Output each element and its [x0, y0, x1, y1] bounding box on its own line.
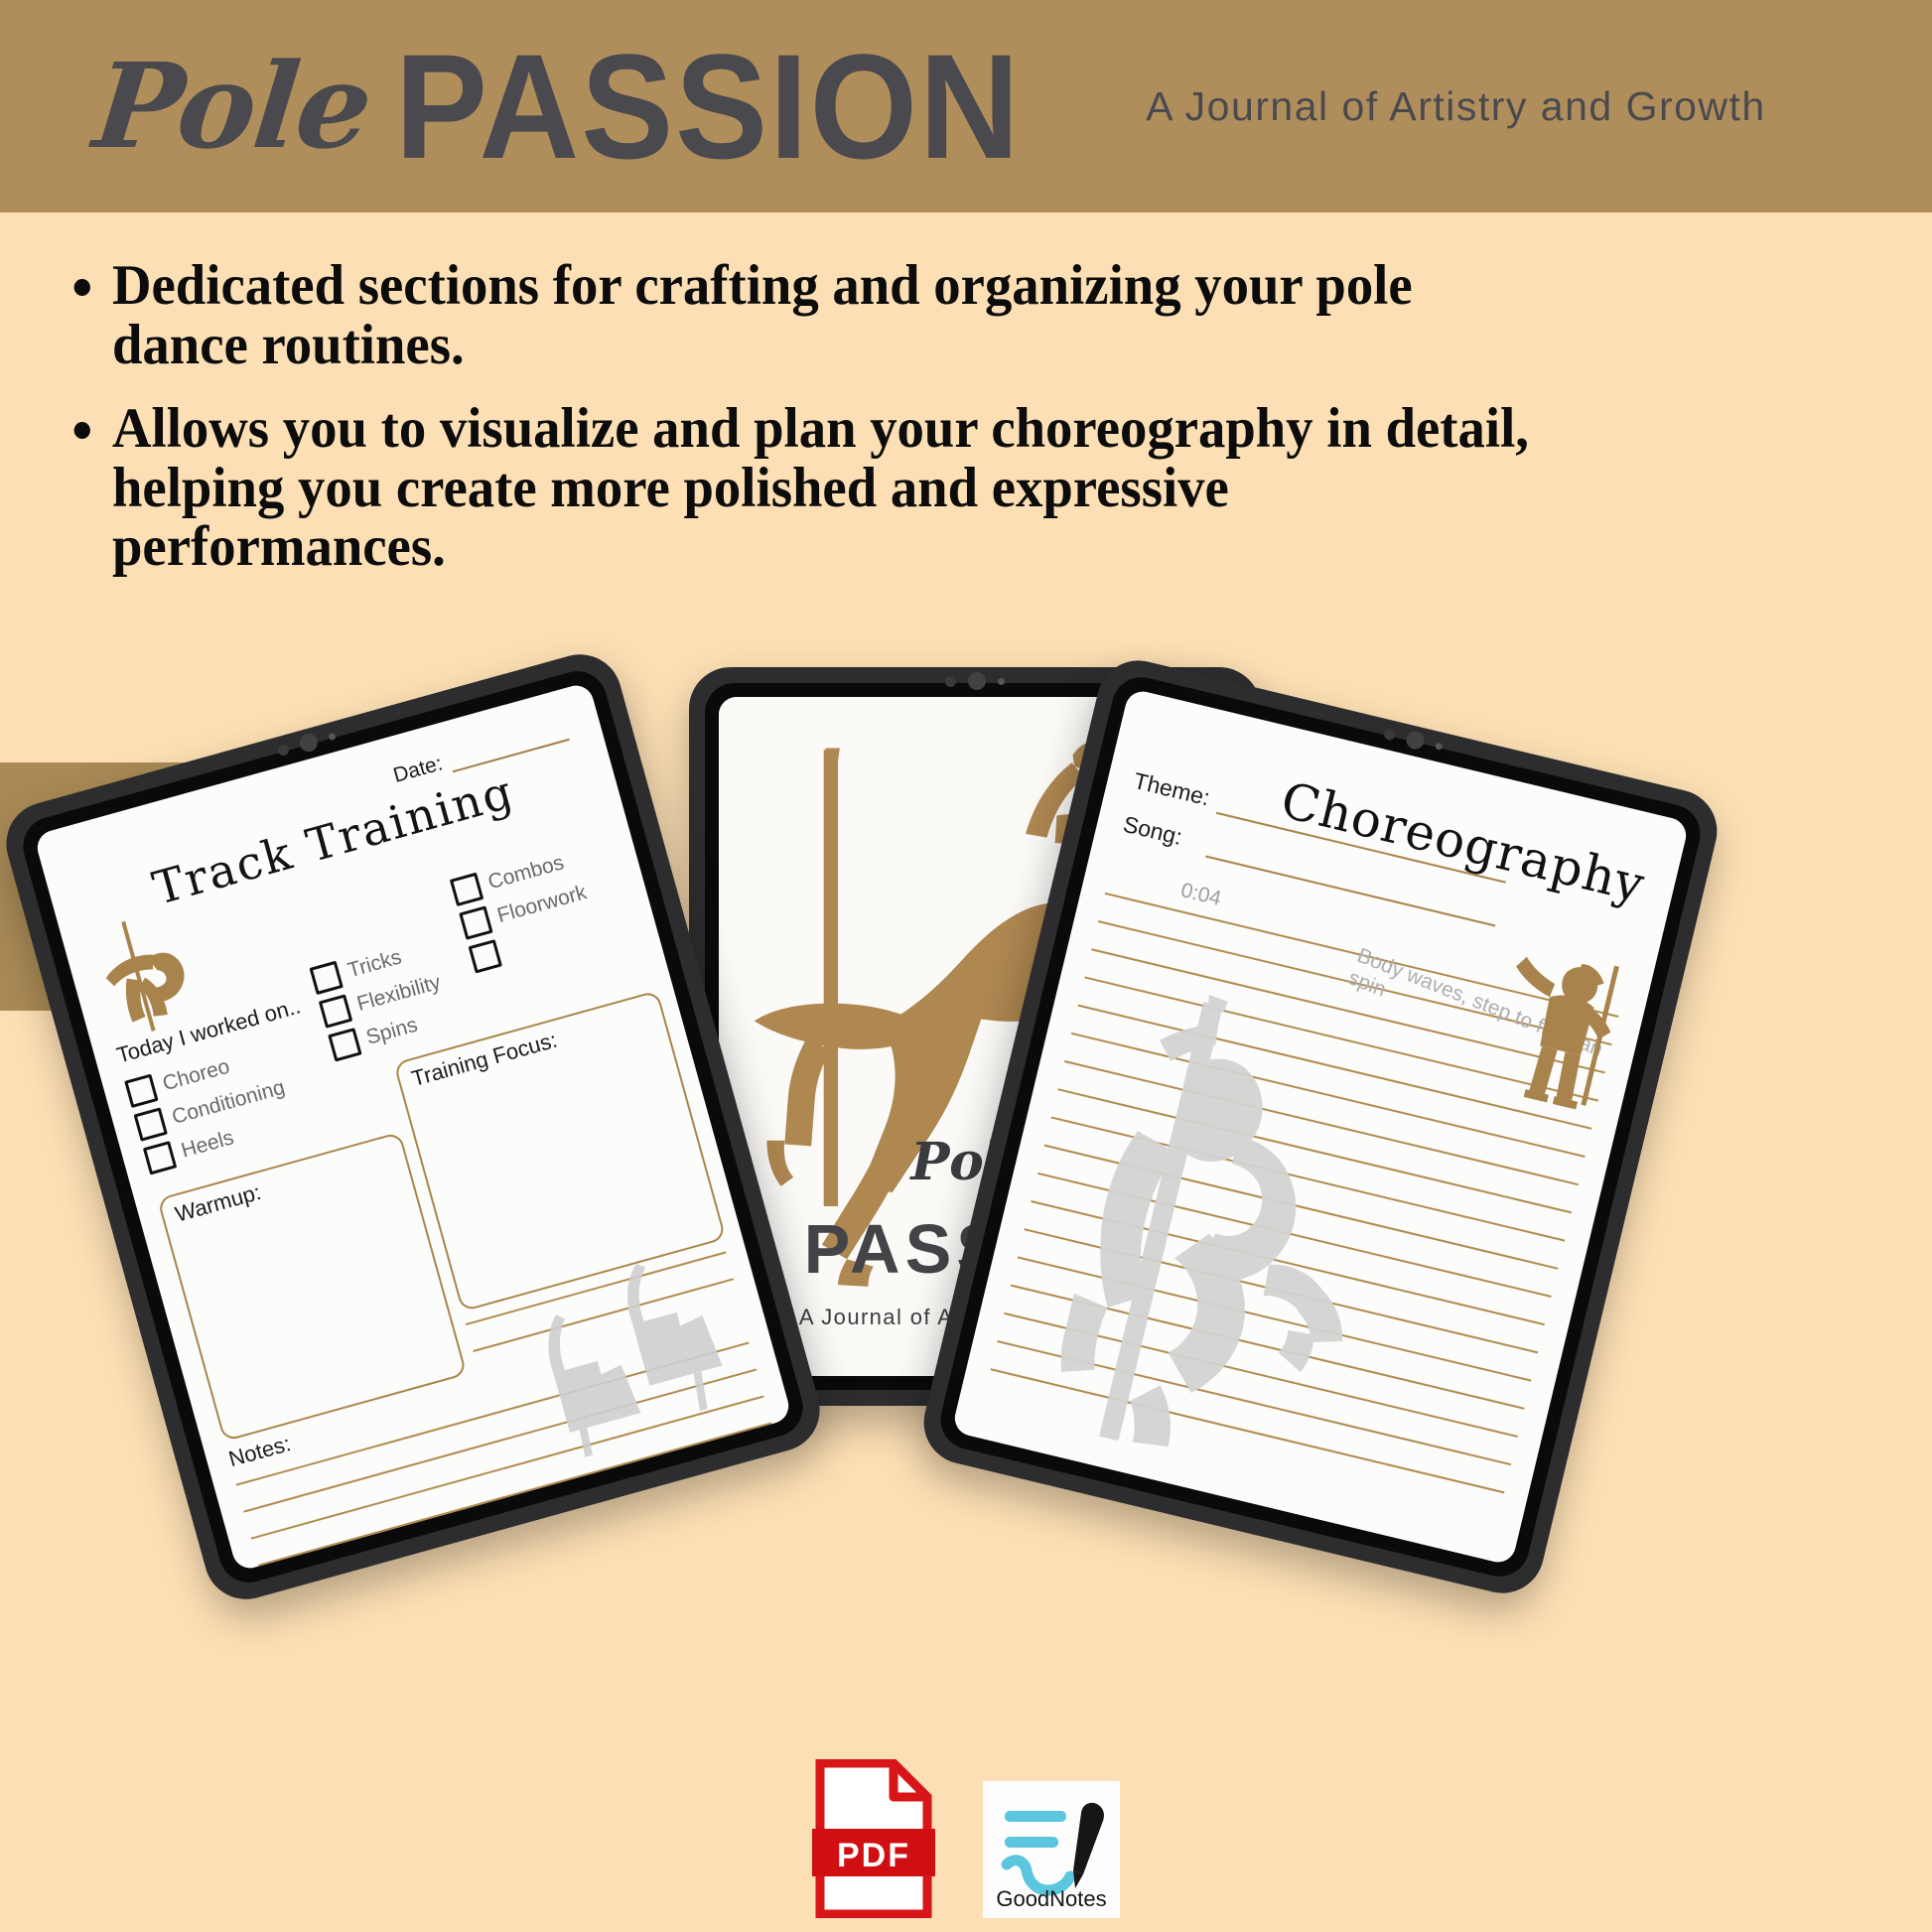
- timestamp-marker: 0:04: [1178, 879, 1223, 911]
- warmup-label: Warmup:: [173, 1179, 264, 1228]
- brand-tagline: A Journal of Artistry and Growth: [1146, 83, 1766, 130]
- checkbox-icon[interactable]: [124, 1074, 158, 1108]
- checkbox-icon[interactable]: [319, 994, 352, 1028]
- checkbox-icon[interactable]: [459, 905, 492, 939]
- checkbox-label: Spins: [363, 1014, 420, 1050]
- checkbox-icon[interactable]: [469, 939, 502, 973]
- checkbox-group-3[interactable]: Combos Floorwork: [448, 839, 600, 974]
- checkbox-icon[interactable]: [450, 873, 483, 906]
- pole-dancer-logo-icon: [82, 907, 198, 1043]
- track-training-page: Date: Track Training Today I worked on..…: [34, 682, 793, 1573]
- camera-lens-icon: [1405, 730, 1427, 752]
- checkbox-group-2[interactable]: Tricks Flexibility Spins: [308, 928, 454, 1061]
- checkbox-icon[interactable]: [309, 961, 343, 995]
- song-label: Song:: [1121, 811, 1202, 855]
- ruled-line: [266, 1449, 779, 1572]
- checkbox-icon[interactable]: [143, 1141, 177, 1174]
- feature-bullet-list: Dedicated sections for crafting and orga…: [55, 256, 1603, 601]
- brand-bold-text: PASSION: [395, 32, 1022, 181]
- front-camera-group: [945, 672, 1005, 690]
- list-item: Allows you to visualize and plan your ch…: [112, 399, 1544, 578]
- camera-lens-icon: [968, 672, 986, 690]
- checkbox-label: Heels: [179, 1126, 236, 1163]
- sensor-dot-icon: [998, 678, 1005, 685]
- sensor-dot-icon: [1435, 742, 1443, 750]
- ruled-line: [258, 1422, 771, 1566]
- pole-dancer-accent-icon: [1479, 932, 1640, 1116]
- goodnotes-label: GoodNotes: [983, 1886, 1120, 1912]
- theme-label: Theme:: [1131, 767, 1212, 811]
- tablet-screen: Date: Track Training Today I worked on..…: [34, 682, 793, 1573]
- pdf-badge: PDF: [812, 1759, 935, 1918]
- format-badge-row: PDF GoodNotes: [0, 1759, 1932, 1918]
- checkbox-icon[interactable]: [133, 1107, 167, 1141]
- goodnotes-badge: GoodNotes: [983, 1781, 1120, 1918]
- header-banner: Pole PASSION A Journal of Artistry and G…: [0, 0, 1932, 212]
- checkbox-icon[interactable]: [328, 1028, 361, 1061]
- checkbox-label: Tricks: [345, 945, 405, 983]
- list-item: Dedicated sections for crafting and orga…: [112, 256, 1544, 375]
- camera-dot-icon: [1383, 728, 1396, 741]
- brand-script-text: Pole: [89, 48, 376, 165]
- camera-lens-icon: [298, 732, 320, 754]
- warmup-box[interactable]: Warmup:: [157, 1132, 468, 1443]
- pdf-label: PDF: [812, 1837, 935, 1875]
- camera-dot-icon: [276, 743, 290, 757]
- training-focus-label: Training Focus:: [409, 1028, 560, 1092]
- sensor-dot-icon: [328, 732, 337, 741]
- camera-dot-icon: [945, 676, 956, 687]
